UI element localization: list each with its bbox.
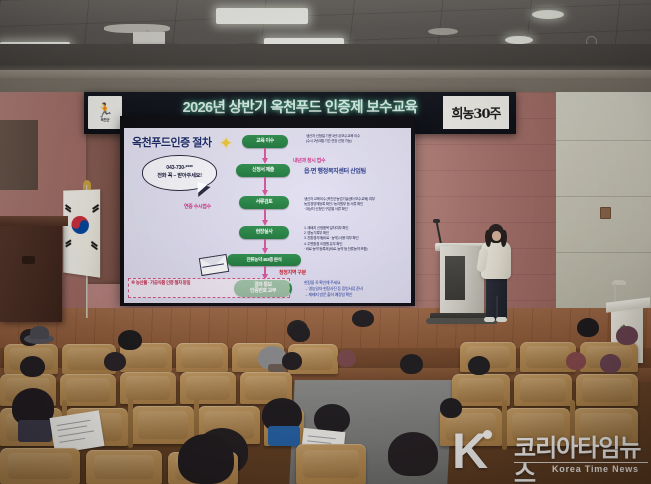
- audience-shoulders: [268, 426, 300, 446]
- south-korea-flag: [63, 189, 100, 277]
- audience-head-cap: [337, 350, 356, 367]
- audience-head-cap: [566, 352, 586, 370]
- audience-head: [20, 356, 45, 377]
- taeguk-swirl-red: [71, 220, 80, 229]
- flow-step-2: 신청서 제출: [236, 164, 290, 177]
- slide-bottom-note: ※ 농산물 · 가공식품 인증 절차 동일: [131, 280, 286, 286]
- audience-head-cap: [600, 354, 621, 373]
- watermark-english: Korea Time News: [552, 464, 639, 474]
- seat-divider: [128, 398, 133, 448]
- flow-step-4: 현장실사: [239, 226, 289, 239]
- audience-head: [282, 352, 302, 370]
- audience-head: [440, 398, 462, 418]
- wall-recess: [0, 120, 38, 190]
- seat[interactable]: [0, 448, 80, 484]
- flow-step-5: 잔류농약 463종 분석: [227, 254, 301, 266]
- audience-head: [468, 356, 490, 375]
- watermark-logo-dot: [483, 430, 492, 439]
- audience-head: [577, 318, 599, 337]
- okcheon-emblem: 🏃 옥천군: [88, 96, 122, 129]
- audience-head-cap: [616, 326, 638, 345]
- seat[interactable]: [180, 372, 236, 404]
- ceiling-round-light: [505, 36, 533, 44]
- watermark-korean: 코리아타임뉴스: [514, 436, 648, 484]
- wall-seam: [556, 252, 651, 253]
- watermark: K 코리아타임뉴스 Korea Time News: [452, 424, 648, 478]
- emblem-label: 옥천군: [101, 117, 110, 122]
- bubble-line-1: 043-730-****: [166, 165, 192, 173]
- wall-seam: [556, 196, 651, 197]
- calligraphy-plaque: 희농30주: [443, 96, 509, 129]
- audience-head: [178, 434, 234, 484]
- annotation-3: 읍·면 행정복지센터 산업팀: [304, 166, 366, 175]
- slide-title: 옥천푸드인증 절차: [132, 134, 212, 150]
- audience-shoulders: [18, 420, 52, 442]
- runner-figure-icon: 🏃: [96, 103, 113, 117]
- flow-step-1: 교육 이수: [242, 135, 288, 148]
- wall-seam: [556, 140, 651, 141]
- side-note-4: 1. 재배지 신청품목 일치여부 확인 2. 영농기록부 확인 3. 친환경자재…: [304, 226, 410, 252]
- seat[interactable]: [576, 374, 638, 406]
- annotation-4: 청정지역 구분: [279, 269, 306, 276]
- presenter-shoe-left: [484, 317, 495, 322]
- audience-head: [290, 324, 310, 342]
- taeguk-swirl-blue: [80, 220, 89, 229]
- side-note-3: 생산자 교육이수 (옥천군농업기술센터 보수교육) 여부 농업경영체등록 확인 …: [304, 197, 410, 213]
- envelope-icon: [199, 254, 229, 276]
- annotation-1: 내년과 창시 접수: [293, 157, 325, 164]
- presenter-shoe-right: [496, 317, 507, 322]
- seat[interactable]: [514, 374, 572, 406]
- ceiling-round-light: [532, 10, 564, 19]
- left-podium-top: [0, 216, 68, 226]
- seat[interactable]: [86, 450, 162, 484]
- flow-step-3: 서류검토: [239, 196, 289, 209]
- watermark-logo-letter: K: [452, 426, 485, 476]
- left-wooden-podium: [0, 222, 62, 322]
- seat[interactable]: [296, 444, 366, 484]
- audience-head: [352, 310, 374, 327]
- left-podium-emblem: [22, 256, 35, 264]
- presenter-face: [492, 231, 501, 241]
- seat[interactable]: [176, 343, 228, 372]
- audience-head: [118, 330, 142, 350]
- side-note-1: 생산자 신청일 기준 3년 내 보수교육 이수 (수시 2년/3월 기간 연장 …: [306, 134, 410, 144]
- audience-head: [388, 432, 438, 476]
- seat[interactable]: [60, 374, 116, 406]
- star-icon: ✦: [216, 134, 236, 153]
- ceiling-vent: [428, 28, 458, 35]
- watermark-rule: [514, 462, 648, 463]
- bubble-line-2: 전화 꼭 – 받아주세요!: [157, 173, 202, 181]
- ceiling-panel-light: [216, 8, 308, 24]
- presentation-slide: 옥천푸드인증 절차 ✦ 교육 이수 신청서 제출 서류검토 현장실사 잔류농약 …: [124, 128, 411, 303]
- audience-head: [400, 354, 423, 374]
- podium-front-panel: [445, 256, 465, 300]
- banner-title: 2026년 상반기 옥천푸드 인증제 보수교육: [183, 96, 418, 117]
- audience-head: [104, 352, 126, 371]
- annotation-2: 연중 수시접수: [184, 203, 211, 210]
- audience-hat: [30, 326, 49, 339]
- side-note-5: 현장을 꼭 확인해 주세요 → 영농일지·현장사진 등 증빙서류 준비 → 재배…: [304, 280, 408, 297]
- seat[interactable]: [132, 406, 194, 444]
- photo-scene: 🏃 옥천군 2026년 상반기 옥천푸드 인증제 보수교육 2026. 2. 2…: [0, 0, 651, 484]
- wall-outlet-icon: [600, 207, 611, 219]
